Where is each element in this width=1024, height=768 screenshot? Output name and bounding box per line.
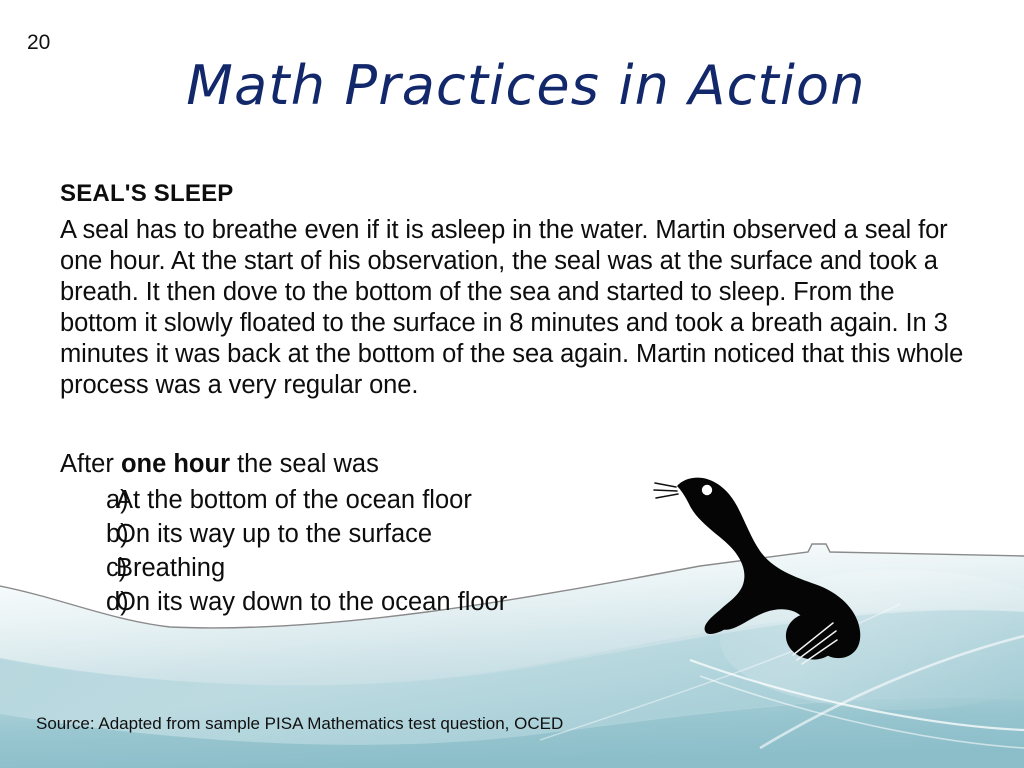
- passage-body: A seal has to breathe even if it is asle…: [60, 215, 965, 401]
- seal-eye: [702, 485, 712, 495]
- source-note: Source: Adapted from sample PISA Mathema…: [36, 714, 563, 734]
- question-stem-prefix: After: [60, 450, 121, 478]
- seal-rear-flipper: [786, 611, 839, 659]
- seal-illustration: [650, 468, 900, 678]
- option-letter-a: a): [60, 483, 116, 517]
- passage-heading: SEAL'S SLEEP: [60, 180, 965, 208]
- question-stem-suffix: the seal was: [230, 450, 379, 478]
- seal-whiskers: [654, 483, 678, 498]
- page-number: 20: [27, 32, 50, 53]
- seal-front-flipper: [705, 590, 747, 634]
- option-letter-b: b): [60, 517, 116, 551]
- question-stem-emphasis: one hour: [121, 450, 230, 478]
- slide-canvas: 20 Math Practices in Action SEAL'S SLEEP…: [0, 0, 1024, 768]
- option-letter-d: d): [60, 585, 116, 619]
- page-title: Math Practices in Action: [0, 54, 1024, 117]
- option-letter-c: c): [60, 551, 116, 585]
